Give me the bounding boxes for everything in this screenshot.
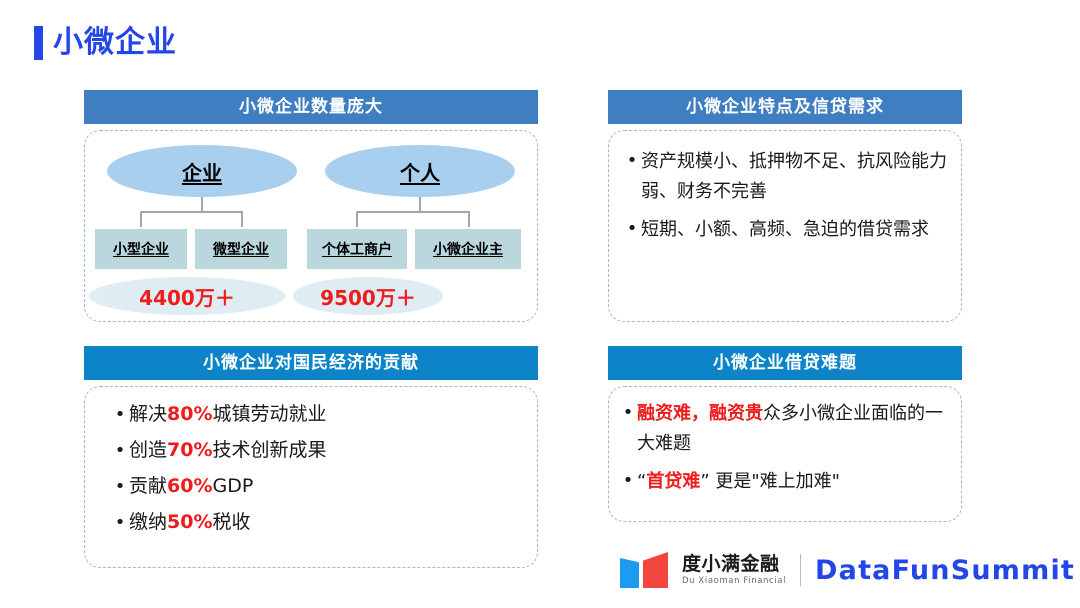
panel-lending-difficulty: 小微企业借贷难题 • 融资难，融资贵众多小微企业面临的一大难题 • “首贷难” … [608, 346, 962, 522]
node-personal: 个人 [325, 145, 515, 197]
contribution-bullet-4: 缴纳50%税收 [129, 509, 251, 535]
panel-header-features: 小微企业特点及信贷需求 [608, 90, 962, 124]
panel-features-credit-needs: 小微企业特点及信贷需求 • 资产规模小、抵押物不足、抗风险能力弱、财务不完善 •… [608, 90, 962, 322]
list-item: • 创造70%技术创新成果 [111, 437, 537, 465]
node-enterprise-label: 企业 [182, 157, 222, 186]
bullet-dot-icon: • [623, 147, 641, 175]
contribution-bullet-3: 贡献60%GDP [129, 473, 253, 499]
bullet-dot-icon: • [619, 467, 637, 495]
bullet-dot-icon: • [111, 401, 129, 429]
title-accent-bar [34, 26, 43, 60]
panel-enterprise-count: 小微企业数量庞大 企业 个人 小型企业 微型企业 个体工商户 小微企业主 440… [84, 90, 538, 322]
logo-divider [800, 554, 801, 586]
list-item: • 缴纳50%税收 [111, 509, 537, 537]
duxiaoman-wordmark: 度小满金融 Du Xiaoman Financial [682, 555, 786, 586]
leaf-business-owner: 小微企业主 [415, 229, 521, 269]
list-item: • “首贷难” 更是"难上加难" [619, 467, 951, 497]
brand-name-cn: 度小满金融 [682, 555, 786, 574]
bullet-dot-icon: • [619, 399, 637, 427]
leaf-individual-business-label: 个体工商户 [322, 239, 392, 259]
bullet-dot-icon: • [111, 437, 129, 465]
brand-name-en: Du Xiaoman Financial [682, 577, 786, 586]
panel-body-features: • 资产规模小、抵押物不足、抗风险能力弱、财务不完善 • 短期、小额、高频、急迫… [608, 130, 962, 322]
footer-logos: 度小满金融 Du Xiaoman Financial DataFunSummit [620, 552, 1075, 588]
difficulty-bullet-1: 融资难，融资贵众多小微企业面临的一大难题 [637, 399, 951, 459]
leaf-micro-enterprise-label: 微型企业 [213, 239, 269, 259]
panel-body-contribution: • 解决80%城镇劳动就业 • 创造70%技术创新成果 • 贡献60%GDP •… [84, 386, 538, 568]
list-item: • 解决80%城镇劳动就业 [111, 401, 537, 429]
bullet-dot-icon: • [623, 215, 641, 243]
stat-enterprise-count-value: 4400万＋ [139, 282, 235, 311]
list-item: • 短期、小额、高频、急迫的借贷需求 [623, 215, 947, 245]
difficulty-bullet-2: “首贷难” 更是"难上加难" [637, 467, 840, 497]
panel-body-difficulty: • 融资难，融资贵众多小微企业面临的一大难题 • “首贷难” 更是"难上加难" [608, 386, 962, 522]
connector-bracket-personal [356, 211, 470, 227]
title-text: 小微企业 [53, 28, 177, 58]
stat-personal-count: 9500万＋ [293, 277, 443, 315]
stat-enterprise-count: 4400万＋ [89, 277, 285, 315]
panel-header-contribution: 小微企业对国民经济的贡献 [84, 346, 538, 380]
logo-blue-shape [620, 558, 639, 588]
connector-bracket-enterprise [140, 211, 243, 227]
page-title: 小微企业 [34, 26, 177, 60]
bullet-dot-icon: • [111, 509, 129, 537]
feature-bullet-2: 短期、小额、高频、急迫的借贷需求 [641, 215, 929, 245]
event-wordmark: DataFunSummit [815, 555, 1075, 586]
list-item: • 贡献60%GDP [111, 473, 537, 501]
node-enterprise: 企业 [107, 145, 297, 197]
panel-header-count: 小微企业数量庞大 [84, 90, 538, 124]
panel-economic-contribution: 小微企业对国民经济的贡献 • 解决80%城镇劳动就业 • 创造70%技术创新成果… [84, 346, 538, 568]
panel-header-difficulty: 小微企业借贷难题 [608, 346, 962, 380]
leaf-individual-business: 个体工商户 [307, 229, 407, 269]
bullet-dot-icon: • [111, 473, 129, 501]
stat-personal-count-value: 9500万＋ [320, 282, 416, 311]
logo-red-shape [643, 552, 668, 588]
list-item: • 融资难，融资贵众多小微企业面临的一大难题 [619, 399, 951, 459]
leaf-small-enterprise-label: 小型企业 [113, 239, 169, 259]
leaf-business-owner-label: 小微企业主 [433, 239, 503, 259]
list-item: • 资产规模小、抵押物不足、抗风险能力弱、财务不完善 [623, 147, 947, 207]
duxiaoman-logo-icon [620, 552, 668, 588]
leaf-small-enterprise: 小型企业 [95, 229, 187, 269]
panel-body-count: 企业 个人 小型企业 微型企业 个体工商户 小微企业主 4400万＋ 9500万… [84, 130, 538, 322]
contribution-bullet-1: 解决80%城镇劳动就业 [129, 401, 327, 427]
contribution-bullet-2: 创造70%技术创新成果 [129, 437, 327, 463]
leaf-micro-enterprise: 微型企业 [195, 229, 287, 269]
feature-bullet-1: 资产规模小、抵押物不足、抗风险能力弱、财务不完善 [641, 147, 947, 207]
node-personal-label: 个人 [400, 157, 440, 186]
